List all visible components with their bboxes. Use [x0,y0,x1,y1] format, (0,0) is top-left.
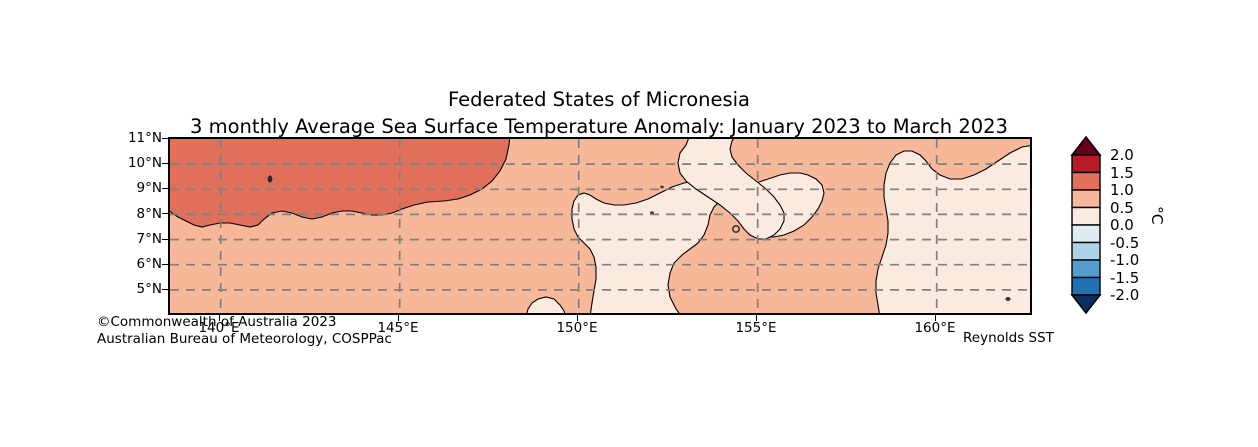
chart-title: Federated States of Micronesia 3 monthly… [0,86,1198,140]
island-marker [268,175,273,182]
colorbar-tick-m1p0: -1.0 [1110,251,1139,269]
y-tickmark [162,188,168,189]
colorbar-under-arrow [1072,295,1100,313]
y-tickmark [162,289,168,290]
copyright-line-2: Australian Bureau of Meteorology, COSPPa… [97,331,392,348]
colorbar-over-arrow [1072,137,1100,155]
copyright-attribution: ©Commonwealth of Australia 2023 Australi… [97,314,392,348]
colorbar-tick-m2p0: -2.0 [1110,286,1139,304]
colorbar-unit-label: °C [1148,206,1166,225]
y-tickmark [162,239,168,240]
y-axis-label-5n: 5°N [100,281,162,297]
colorbar-tick-1p5: 1.5 [1110,164,1134,182]
colorbar-band-0p5-1p0 [1072,190,1100,208]
colorbar-tick-2p0: 2.0 [1110,146,1134,164]
y-axis-label-11n: 11°N [100,130,162,146]
island-marker [1005,297,1010,301]
sst-anomaly-map [170,139,1030,313]
colorbar-tick-0p5: 0.5 [1110,199,1134,217]
x-axis-label-150e: 150°E [532,320,622,336]
island-marker [660,186,664,189]
y-axis-label-7n: 7°N [100,231,162,247]
colorbar-tick-labels: 2.0 1.5 1.0 0.5 0.0 -0.5 -1.0 -1.5 -2.0 [1110,133,1152,317]
colorbar-band-m1p5-m1p0 [1072,260,1100,278]
y-axis-label-10n: 10°N [100,155,162,171]
colorbar-band-1p0-1p5 [1072,173,1100,191]
map-plot-area [168,137,1032,315]
colorbar-tick-m1p5: -1.5 [1110,269,1139,287]
y-tickmark [162,264,168,265]
data-source-credit: Reynolds SST [963,330,1054,346]
colorbar-band-m2p0-m1p5 [1072,278,1100,296]
colorbar-band-0p0-0p5 [1072,208,1100,226]
colorbar-band-m1p0-m0p5 [1072,243,1100,261]
y-axis-label-6n: 6°N [100,256,162,272]
y-axis-label-9n: 9°N [100,180,162,196]
title-line-1: Federated States of Micronesia [0,86,1198,113]
copyright-line-1: ©Commonwealth of Australia 2023 [97,314,392,331]
title-line-2: 3 monthly Average Sea Surface Temperatur… [0,113,1198,140]
colorbar [1068,133,1104,317]
colorbar-band-m0p5-0p0 [1072,225,1100,243]
colorbar-band-1p5-2p0 [1072,155,1100,173]
y-tickmark [162,213,168,214]
y-tickmark [162,163,168,164]
y-axis-label-8n: 8°N [100,206,162,222]
colorbar-tick-m0p5: -0.5 [1110,234,1139,252]
colorbar-tick-0p0: 0.0 [1110,216,1134,234]
figure-canvas: Federated States of Micronesia 3 monthly… [0,0,1258,447]
y-tickmark [162,138,168,139]
x-axis-label-155e: 155°E [711,320,801,336]
colorbar-tick-1p0: 1.0 [1110,181,1134,199]
